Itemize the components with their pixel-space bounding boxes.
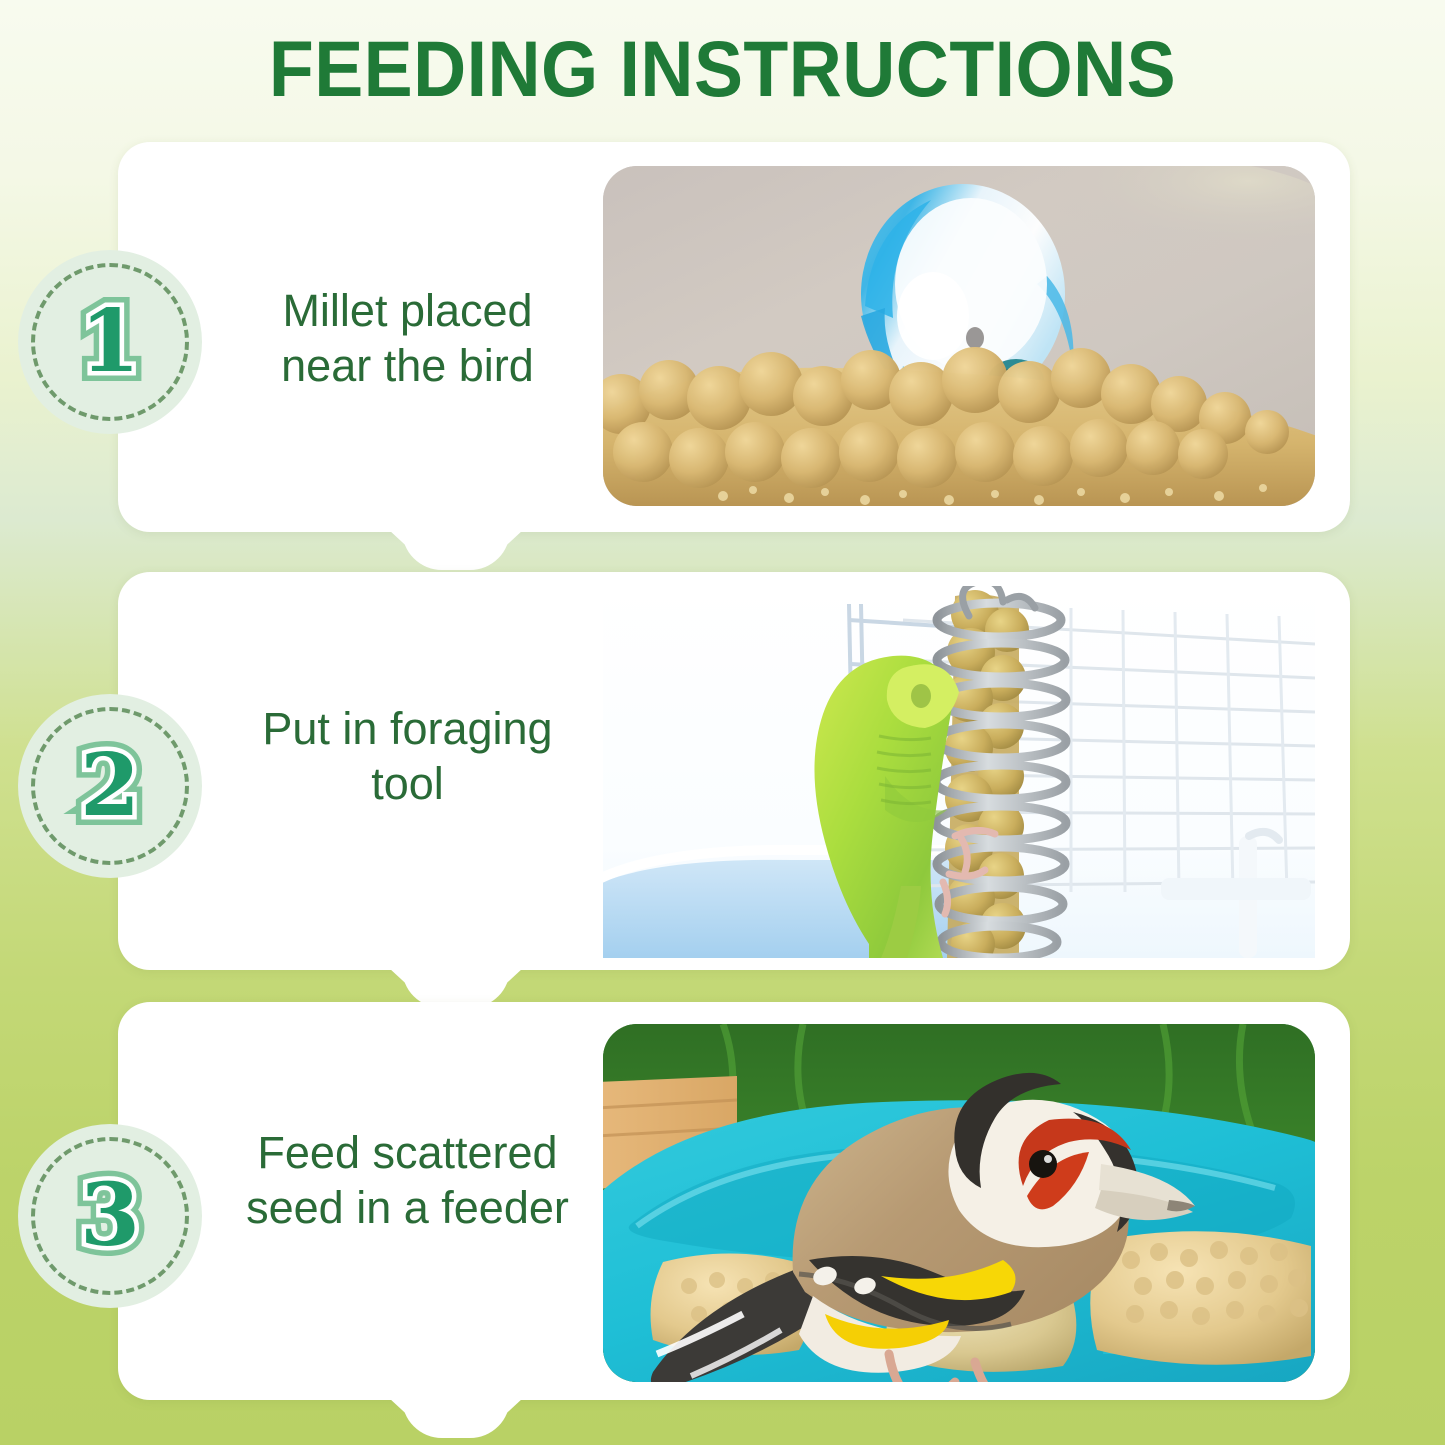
step-3-text: Feed scattered seed in a feeder: [215, 1126, 600, 1236]
step-2-text-line-2: tool: [215, 757, 600, 812]
step-1-number: 1: [18, 250, 202, 434]
step-2-photo: [603, 586, 1315, 958]
blue-white-budgie-eating-millet-spray-illustration: [603, 166, 1315, 506]
step-3-text-line-2: seed in a feeder: [215, 1181, 600, 1236]
green-budgie-on-spiral-foraging-tool-illustration: [603, 586, 1315, 958]
step-3-badge: 3 3: [18, 1124, 202, 1308]
step-1-badge: 1 1: [18, 250, 202, 434]
step-1-photo: [603, 166, 1315, 506]
step-3-photo: [603, 1024, 1315, 1382]
card-3-notch: [378, 1398, 534, 1438]
step-2-badge: 2 2: [18, 694, 202, 878]
step-1-text: Millet placed near the bird: [215, 284, 600, 394]
step-2-text-line-1: Put in foraging: [215, 702, 600, 757]
step-3-text-line-1: Feed scattered: [215, 1126, 600, 1181]
step-1-text-line-2: near the bird: [215, 339, 600, 394]
step-3-number: 3: [18, 1124, 202, 1308]
step-1-text-line-1: Millet placed: [215, 284, 600, 339]
card-1-notch: [378, 530, 534, 570]
goldfinch-on-turquoise-seed-feeder-tray-illustration: [603, 1024, 1315, 1382]
page-title: FEEDING INSTRUCTIONS: [51, 28, 1395, 111]
step-2-number: 2: [18, 694, 202, 878]
step-2-text: Put in foraging tool: [215, 702, 600, 812]
